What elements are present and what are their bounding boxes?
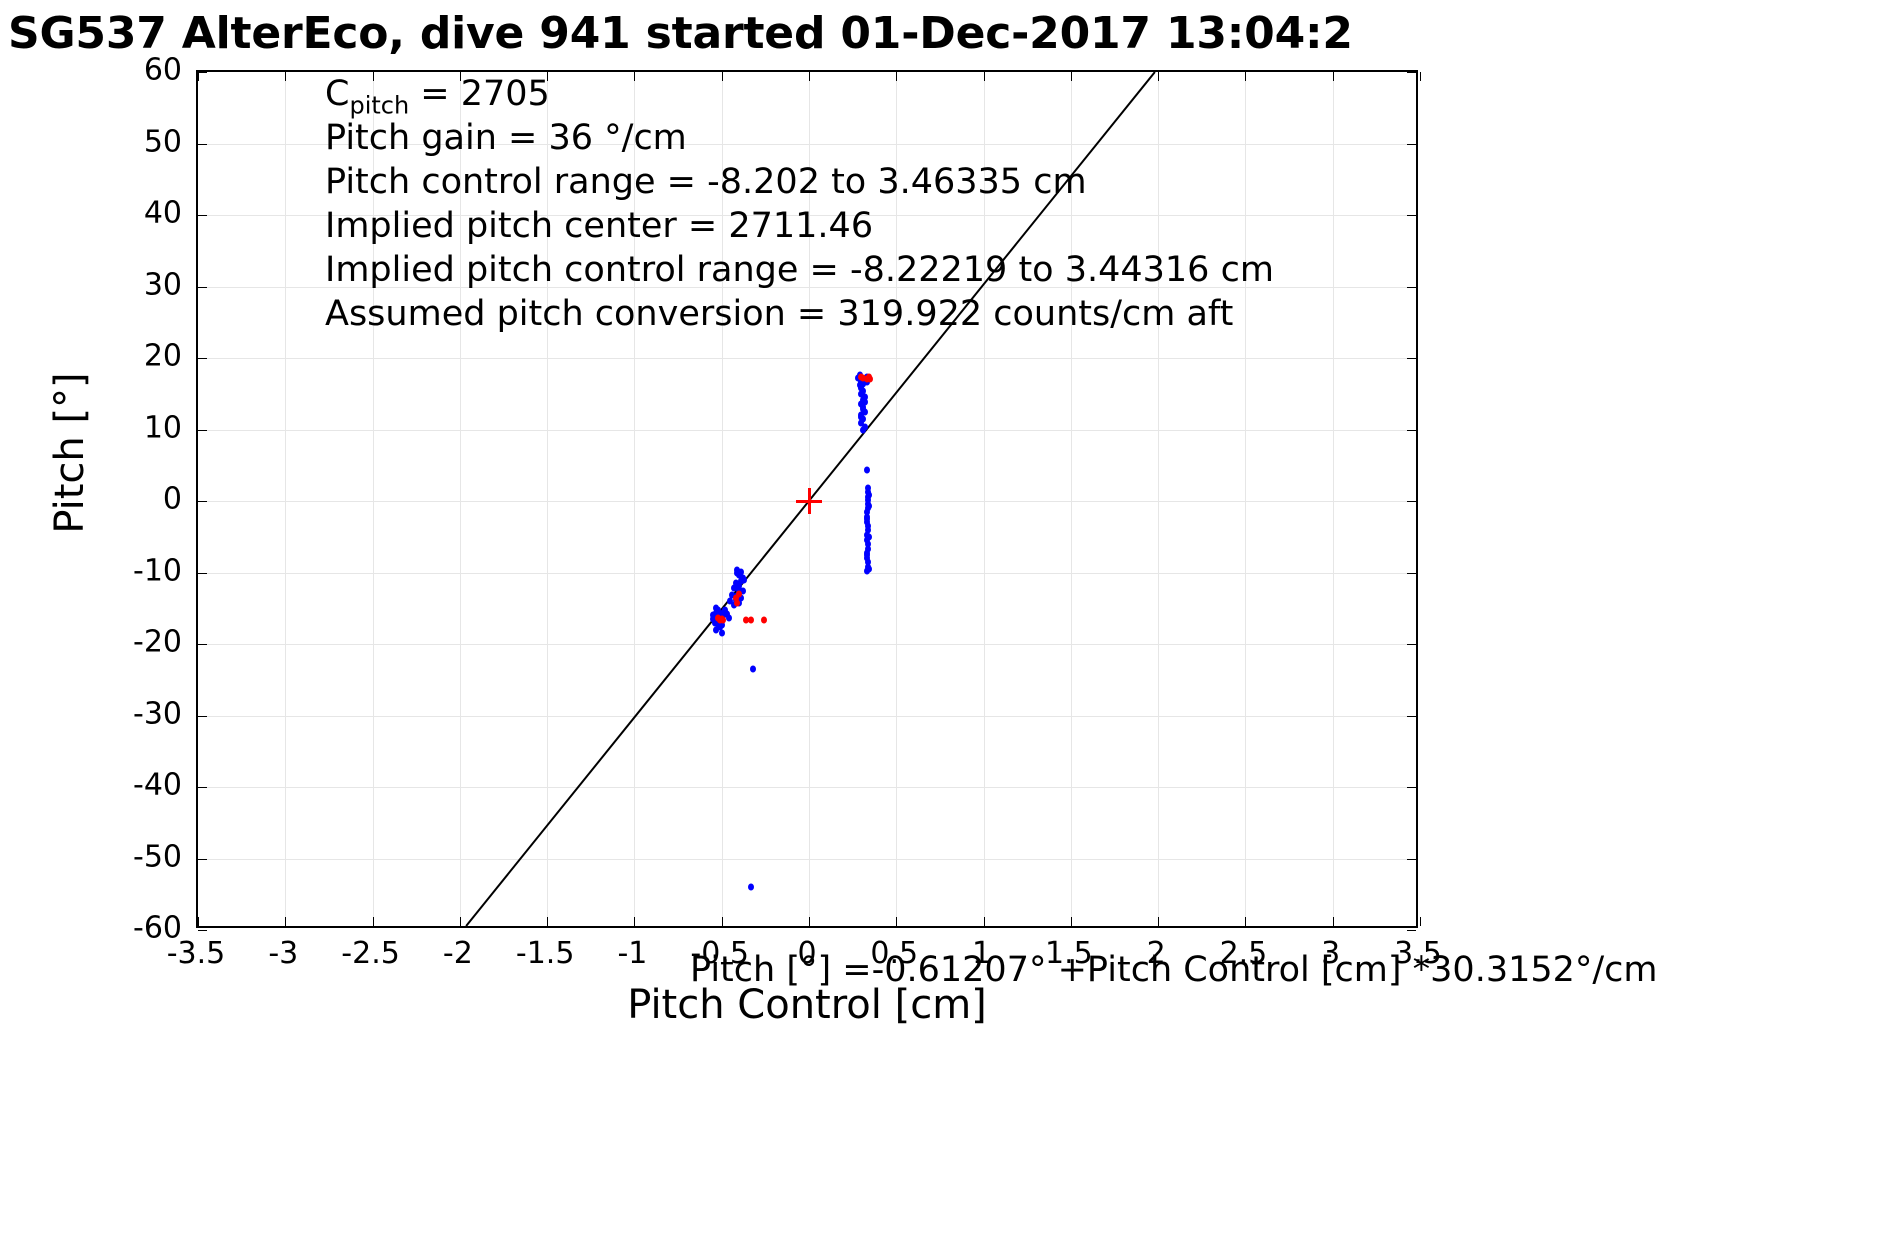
y-axis-tick — [1407, 72, 1416, 73]
x-axis-tick — [722, 917, 723, 926]
y-tick-label: -40 — [133, 768, 182, 803]
scatter-point-blue — [866, 565, 872, 572]
x-axis-tick — [1333, 72, 1334, 81]
scatter-point-blue — [738, 568, 744, 575]
x-axis-tick — [373, 917, 374, 926]
annotation-line-c-pitch: Cpitch = 2705 — [325, 72, 1274, 116]
x-tick-label: -2 — [443, 936, 473, 971]
x-tick-label: -3 — [268, 936, 298, 971]
x-axis-tick — [809, 917, 810, 926]
scatter-point-blue — [862, 398, 868, 405]
x-axis-tick — [1071, 917, 1072, 926]
y-axis-tick — [198, 716, 207, 717]
x-tick-label: -1 — [617, 936, 647, 971]
parameter-annotation-block: Cpitch = 2705 Pitch gain = 36 °/cm Pitch… — [325, 72, 1274, 336]
scatter-point-blue — [731, 584, 737, 591]
y-tick-label: 20 — [144, 339, 182, 374]
y-axis-tick — [198, 430, 207, 431]
y-axis-tick — [1407, 716, 1416, 717]
x-tick-label: -3.5 — [167, 936, 226, 971]
y-tick-label: -30 — [133, 696, 182, 731]
y-axis-tick — [1407, 859, 1416, 860]
x-tick-label: -1.5 — [516, 936, 575, 971]
x-axis-tick — [198, 917, 199, 926]
x-axis-tick — [285, 72, 286, 81]
x-axis-tick — [460, 917, 461, 926]
x-axis-tick — [1333, 917, 1334, 926]
scatter-point-blue — [860, 426, 866, 433]
scatter-point-blue — [864, 552, 870, 559]
y-axis-tick — [1407, 430, 1416, 431]
page-title: SG537 AlterEco, dive 941 started 01-Dec-… — [8, 6, 1890, 62]
x-axis-tick — [1245, 917, 1246, 926]
y-tick-label: 50 — [144, 124, 182, 159]
y-tick-label: -50 — [133, 839, 182, 874]
y-tick-label: 0 — [163, 482, 182, 517]
y-axis-tick — [198, 144, 207, 145]
scatter-point-blue — [713, 604, 719, 611]
y-axis-label: Pitch [°] — [47, 203, 93, 703]
annotation-line-implied-control-range: Implied pitch control range = -8.22219 t… — [325, 248, 1274, 292]
scatter-point-blue — [866, 491, 872, 498]
y-tick-label: 30 — [144, 267, 182, 302]
y-tick-label: -20 — [133, 625, 182, 660]
y-axis-tick — [198, 287, 207, 288]
annotation-line-pitch-gain: Pitch gain = 36 °/cm — [325, 116, 1274, 160]
scatter-point-red — [720, 616, 726, 623]
scatter-point-blue — [726, 614, 732, 621]
scatter-point-blue — [866, 503, 872, 510]
scatter-point-red — [867, 375, 873, 382]
scatter-point-blue — [864, 467, 870, 474]
x-axis-tick — [547, 917, 548, 926]
scatter-point-blue — [750, 666, 756, 673]
y-axis-tick — [198, 358, 207, 359]
y-tick-label: 60 — [144, 53, 182, 88]
y-axis-tick — [198, 644, 207, 645]
y-axis-tick — [198, 72, 207, 73]
y-axis-tick — [1407, 501, 1416, 502]
y-axis-tick — [198, 215, 207, 216]
scatter-point-blue — [741, 576, 747, 583]
y-tick-label: -10 — [133, 553, 182, 588]
c-pitch-symbol: C — [325, 74, 349, 114]
x-axis-tick — [634, 917, 635, 926]
y-axis-tick — [1407, 930, 1416, 931]
scatter-point-blue — [860, 406, 866, 413]
y-axis-tick — [1407, 573, 1416, 574]
scatter-point-blue — [748, 884, 754, 891]
scatter-point-red — [761, 617, 767, 624]
y-axis-tick — [1407, 358, 1416, 359]
y-tick-label: 40 — [144, 196, 182, 231]
y-axis-tick — [198, 501, 207, 502]
x-axis-tick — [896, 917, 897, 926]
fit-equation-label: Pitch [°] =-0.61207° +Pitch Control [cm]… — [690, 950, 1658, 990]
x-axis-tick — [1420, 72, 1421, 81]
c-pitch-value: = 2705 — [409, 74, 550, 114]
y-axis-tick — [198, 930, 207, 931]
y-axis-tick — [198, 787, 207, 788]
scatter-point-blue — [719, 629, 725, 636]
x-axis-tick — [285, 917, 286, 926]
y-tick-label: 10 — [144, 410, 182, 445]
x-axis-tick — [984, 917, 985, 926]
scatter-point-blue — [858, 414, 864, 421]
x-axis-tick — [1420, 917, 1421, 926]
y-axis-tick — [1407, 144, 1416, 145]
x-axis-tick — [198, 72, 199, 81]
scatter-point-red — [748, 616, 754, 623]
y-axis-tick — [1407, 644, 1416, 645]
figure-root: SG537 AlterEco, dive 941 started 01-Dec-… — [0, 0, 1890, 1260]
y-axis-tick — [1407, 287, 1416, 288]
annotation-line-implied-pitch-center: Implied pitch center = 2711.46 — [325, 204, 1274, 248]
y-axis-tick — [1407, 787, 1416, 788]
annotation-line-assumed-conversion: Assumed pitch conversion = 319.922 count… — [325, 292, 1274, 336]
scatter-point-blue — [864, 515, 870, 522]
scatter-point-blue — [858, 383, 864, 390]
scatter-point-blue — [866, 533, 872, 540]
x-axis-tick — [1158, 917, 1159, 926]
y-axis-tick — [198, 859, 207, 860]
annotation-line-pitch-control-range: Pitch control range = -8.202 to 3.46335 … — [325, 160, 1274, 204]
pitch-center-marker — [796, 488, 822, 514]
y-axis-tick — [1407, 215, 1416, 216]
y-axis-tick — [198, 573, 207, 574]
scatter-point-red — [736, 590, 742, 597]
x-tick-label: -2.5 — [341, 936, 400, 971]
scatter-point-red — [734, 599, 740, 606]
